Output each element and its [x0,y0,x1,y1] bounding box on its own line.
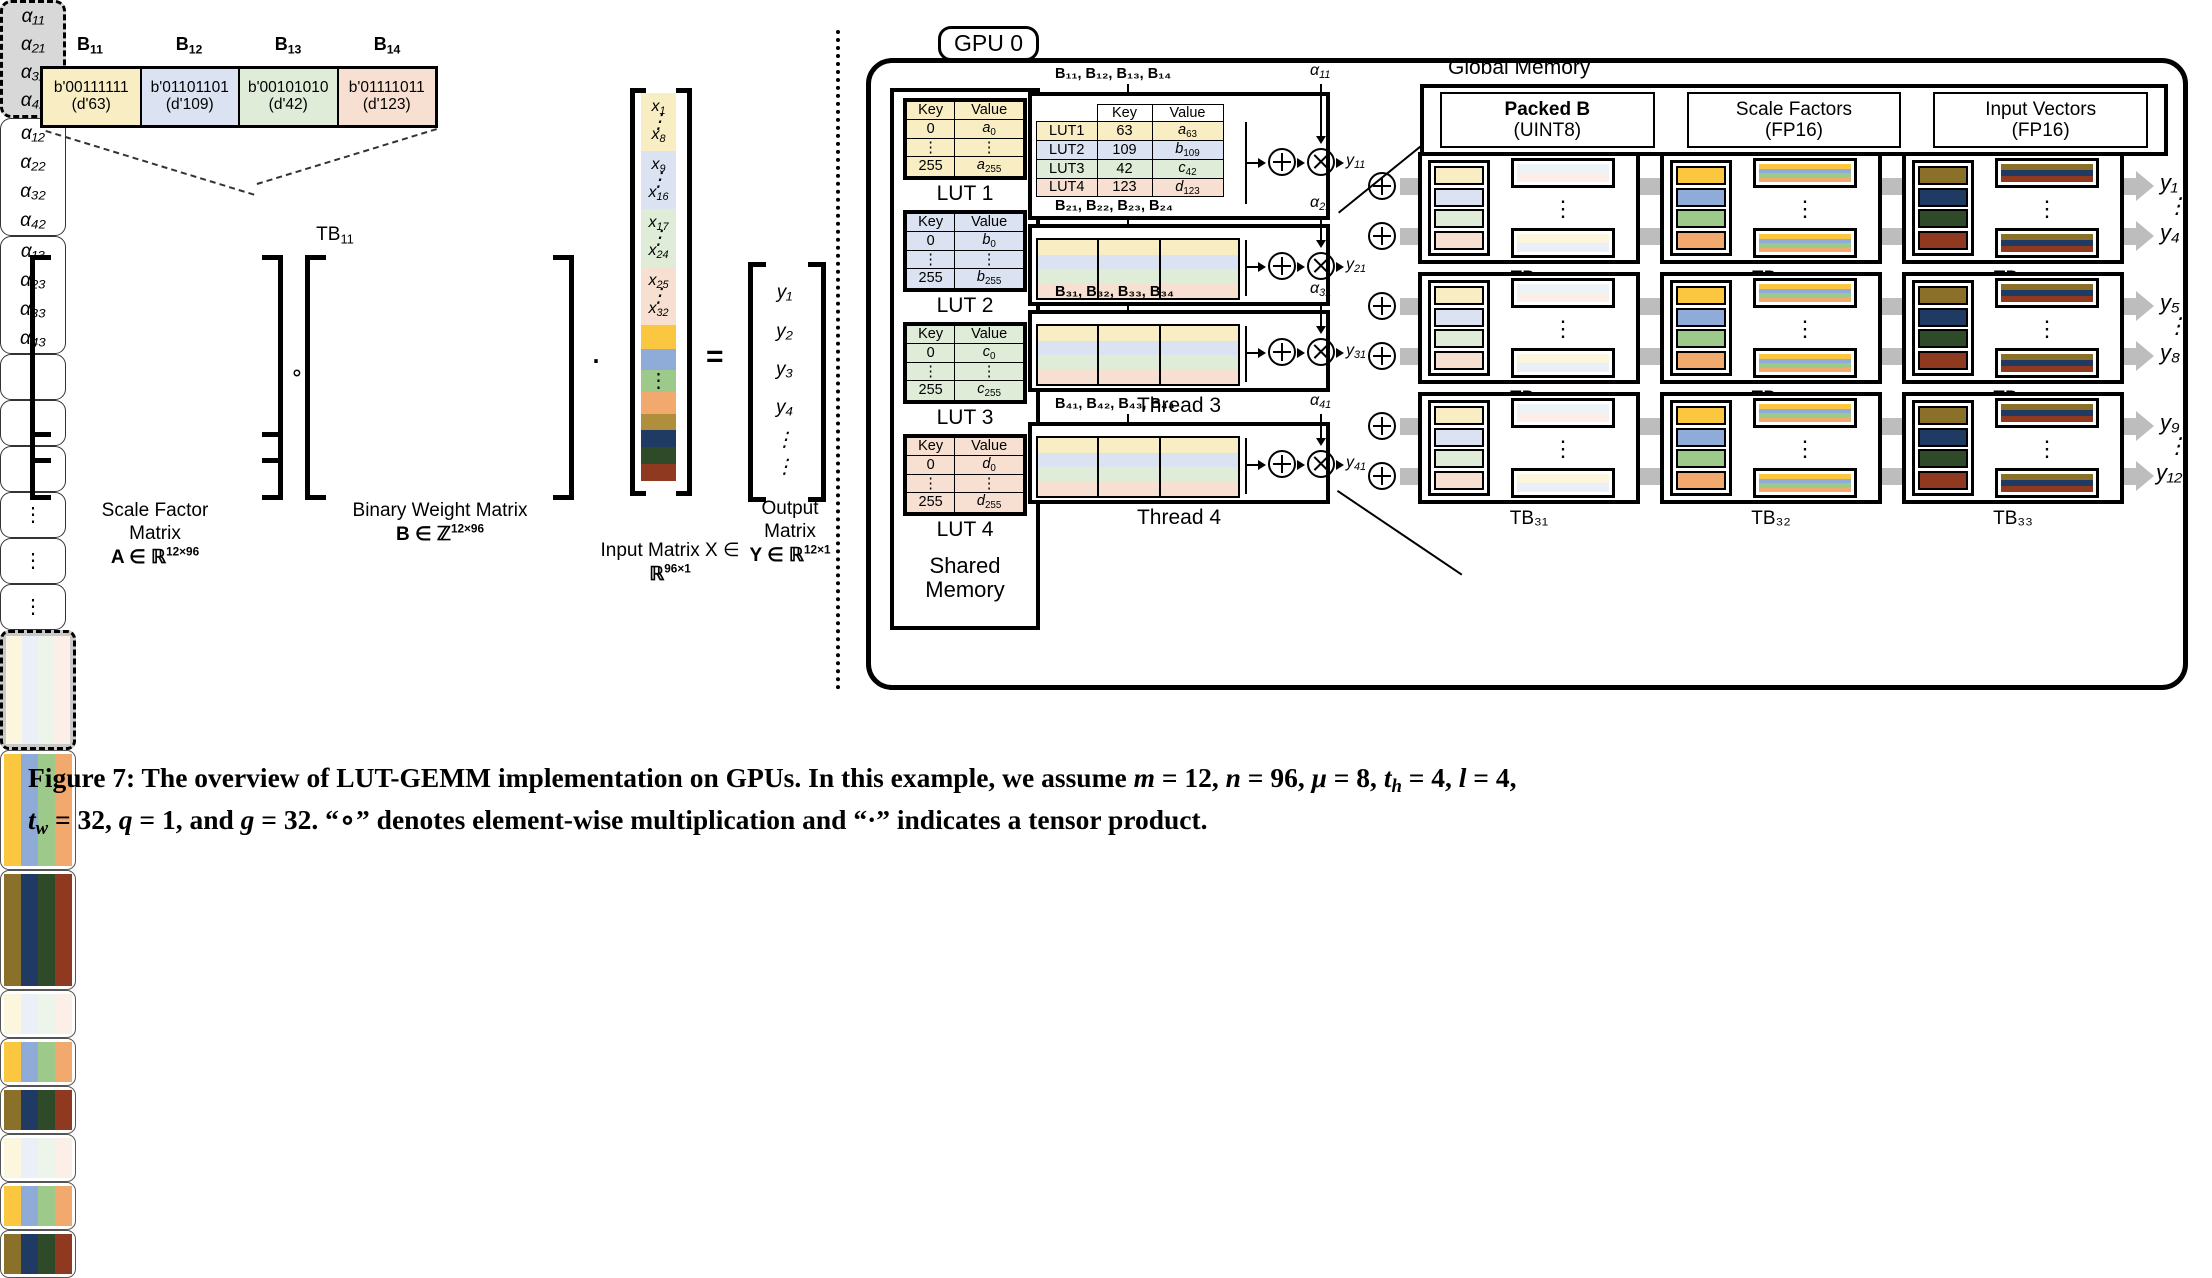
tb-12-dots: ⋮ [1794,203,1816,214]
x-bot-1: x16 [648,185,668,203]
bw-row [4,1052,72,1062]
bw-row [4,958,72,986]
scale-factor-a42: α₄₂ [20,210,46,232]
tb-group-13: ⋮ [1902,152,2124,264]
output-vector-y: y₁ y₂ y₃ y₄ ⋮ ⋮ [761,266,808,488]
tb-22-dots: ⋮ [1794,323,1816,334]
lut2-key-dots: ⋮ [907,251,955,269]
lut1-key-255: 255 [907,157,955,177]
lut2-key-255: 255 [907,269,955,289]
packed-byte-decimal-2: (d'42) [269,97,308,114]
bw-row [4,1186,72,1196]
gm-row1-y-dots: ⋮ [2166,200,2188,211]
thread-2-adder-icon [1268,252,1296,280]
bw-row [4,1042,72,1052]
caption-line-2: Matrix [129,523,181,544]
lut1-key-header: Key [907,102,955,120]
bw-row [4,1244,72,1254]
thread-2-inputs: B₂₁, B₂₂, B₂₃, B₂₄ [1055,198,1173,214]
thread-1-alpha: α11 [1310,62,1330,81]
tb-21-dots: ⋮ [1552,323,1574,334]
thread-3-collapsed-table [1036,324,1240,386]
thread-1-brace-tip [1245,162,1259,164]
bw-row [6,663,70,690]
tb-group-21: ⋮ [1418,272,1640,384]
bw-row [6,636,70,663]
bw-row [4,1004,72,1014]
thread-1-multiplier-icon [1307,148,1335,176]
thread-1-alpha-arrow-icon [1316,136,1326,144]
flow-arrow-head-r2-top-icon [2136,291,2154,321]
lut3-value-0: c0 [955,343,1024,363]
tb-22-right-stack: ⋮ [1732,275,1878,381]
lut-name-3: LUT 3 [903,406,1027,430]
tb-21-chip-bot [1511,348,1615,378]
lut-name-1: LUT 1 [903,182,1027,206]
caption-line-3: A ∈ ℝ [111,547,166,568]
tb-23-left-stack [1912,280,1974,376]
thread-3-mul-arrow-icon [1297,348,1305,358]
thread-4-col-0 [1038,438,1099,496]
thread-2-brace-tip [1245,266,1259,268]
tb-33-right-stack: ⋮ [1974,395,2120,501]
lut3-key-0: 0 [907,343,955,363]
bw-row [6,717,70,744]
thread-4-brace-tip [1245,464,1259,466]
thread-2-output: y21 [1346,256,1366,275]
binary-weight-group-r2c3 [0,1086,76,1134]
thread-3-col-1 [1099,326,1160,384]
tb-32-chip-top [1753,398,1857,428]
binary-weight-group-r3c2 [0,1182,76,1230]
bw-matrix-bracket-right [553,255,574,500]
caption-line-2: B ∈ ℤ [396,524,451,545]
binary-weight-group-r1c3 [0,870,76,990]
lut4-key-255: 255 [907,493,955,513]
thread-4-inputs: B₄₁, B₄₂, B₄₃, B₄₄ [1055,396,1175,412]
bw-row [4,1110,72,1120]
gm-row3-y-bot: y₁₂ [2156,460,2182,486]
lut1-value-255: a255 [955,157,1024,177]
tb-group-22: ⋮ [1660,272,1882,384]
scale-matrix-bracket-left-b [30,432,51,500]
gm-row2-y-bot: y₈ [2160,340,2180,366]
y-bracket-right [808,262,826,502]
gm-cell-0-l1: Packed B [1505,99,1591,120]
lut3-key-dots: ⋮ [907,363,955,381]
y-entry-5: ⋮ [775,462,795,472]
thread-1-key-0: 63 [1097,122,1152,141]
tb-group-11: ⋮ [1418,152,1640,264]
tb-32-right-stack: ⋮ [1732,395,1878,501]
thread-1-value-0: a63 [1152,122,1223,141]
row1-bot-adder-icon [1368,222,1396,250]
thread-1-sum-arrow-icon [1258,158,1266,168]
bw-row [4,1254,72,1264]
caption-line-2: ℝ [649,564,664,585]
thread-3-col-2 [1161,326,1238,384]
packed-byte-label-3: B14 [337,34,437,56]
bw-row [4,1216,72,1226]
bw-row [4,874,72,902]
lut2-value-0: b0 [955,231,1024,251]
thread-1-lut-name-1: LUT2 [1037,141,1098,160]
thread-3-out-arrow-icon [1336,348,1344,358]
thread-1-key-header: Key [1097,105,1152,122]
gm-cell-0-l2: (UINT8) [1514,120,1582,141]
tb-label-sub: 11 [340,232,353,247]
thread-1-key-1: 109 [1097,141,1152,160]
lut-name-4: LUT 4 [903,518,1027,542]
x-tail-0 [641,325,676,348]
x-tail-2: ⋮ [641,370,676,392]
packed-byte-cell-2: b'00101010 (d'42) [240,69,339,125]
thread-1-key-2: 42 [1097,159,1152,178]
tb-23-chip-top [1995,278,2099,308]
tb-32-chip-bot [1753,468,1857,498]
scale-factor-a11: α₁₁ [22,6,45,28]
global-memory-bar: Packed B (UINT8) Scale Factors (FP16) In… [1420,84,2168,156]
lut2-key-header: Key [907,214,955,232]
binary-weight-group-r2c1 [0,990,76,1038]
tensor-product-operator: · [590,352,602,366]
tb-23-right-stack: ⋮ [1974,275,2120,381]
bw-row [4,1148,72,1158]
lut1-key-0: 0 [907,119,955,139]
packed-byte-label-1: B12 [139,34,239,56]
x-tail-7 [641,464,676,481]
thread-4-brace [1245,438,1247,494]
equals-operator: = [706,340,724,374]
thread-4-col-2 [1161,438,1238,496]
tb-33-dots: ⋮ [2036,443,2058,454]
thread-2-out-arrow-icon [1336,262,1344,272]
packed-byte-cell-3: b'01111011 (d'123) [339,69,436,125]
tb-11-left-stack [1428,160,1490,256]
tb-32-dots: ⋮ [1794,443,1816,454]
scale-factor-group-col2: α₁₂ α₂₂ α₃₂ α₄₂ [0,118,66,236]
thread-3-inputs: B₃₁, B₃₂, B₃₃, B₃₄ [1055,284,1174,300]
thread-4-adder-icon [1268,450,1296,478]
caption-sup: 12×96 [451,523,484,536]
thread-1-value-1: b109 [1152,141,1223,160]
thread-2-multiplier-icon [1307,252,1335,280]
tb-31-right-stack: ⋮ [1490,395,1636,501]
thread-1-output: y11 [1346,152,1365,171]
x-tail-6 [641,447,676,464]
thread-3-multiplier-icon [1307,338,1335,366]
thread-4-name: Thread 4 [1028,506,1330,530]
tb-31-left-stack [1428,400,1490,496]
packed-byte-row: b'00111111 (d'63) b'01101101 (d'109) b'0… [40,66,438,128]
lut3-value-dots: ⋮ [955,363,1024,381]
y-entry-2: y₃ [776,359,793,381]
figure-root: B11 B12 B13 B14 b'00111111 (d'63) b'0110… [0,0,2212,864]
gm-cell-2-l1: Input Vectors [1985,99,2096,120]
packed-byte-binary-1: b'01101101 [151,80,229,97]
thread-1-adder-icon [1268,148,1296,176]
thread-2-mul-arrow-icon [1297,262,1305,272]
x-tail-dots: ⋮ [649,376,669,386]
tb-13-dots: ⋮ [2036,203,2058,214]
lut-table-3: Key Value 0 c0 ⋮ ⋮ 255 c255 [903,322,1027,404]
tb-12-chip-top [1753,158,1857,188]
tb-31-chip-top [1511,398,1615,428]
tb-11-chip-bot [1511,228,1615,258]
gm-row1-y-bot: y₄ [2160,220,2180,246]
x-tail-3 [641,392,676,414]
tb11-label: TB11 [270,224,400,247]
x-bot-0: x8 [651,127,665,145]
thread-4-collapsed-table [1036,436,1240,498]
figure-caption-line-1: Figure 7: The overview of LUT-GEMM imple… [28,762,1516,793]
row2-bot-adder-icon [1368,342,1396,370]
flow-arrow-head-r2-bot-icon [2136,341,2154,371]
thread-1-lut-name-2: LUT3 [1037,159,1098,178]
x-tail-4 [641,414,676,431]
bw-matrix-bracket-left [305,255,326,500]
thread-1-lut-name-0: LUT1 [1037,122,1098,141]
thread-1-value-2: c42 [1152,159,1223,178]
shared-memory-line-2: Memory [925,577,1004,602]
bw-row [4,994,72,1004]
x-segment-1: x9 ⋮ x16 [641,151,676,209]
global-memory-cell-1: Scale Factors (FP16) [1687,92,1902,149]
thread-1-lut-name-3: LUT4 [1037,178,1098,197]
bw-row [4,902,72,930]
scale-factor-a32: α₃₂ [20,181,46,203]
gm-cell-1-l1: Scale Factors [1736,99,1852,120]
lut1-value-dots: ⋮ [955,139,1024,157]
tb-13-chip-bot [1995,228,2099,258]
tb-32-left-stack [1670,400,1732,496]
thread-2-alpha-arrow-icon [1316,240,1326,248]
leader-line-right [257,128,437,185]
tb-23-chip-bot [1995,348,2099,378]
caption-line-1: Output [761,498,818,519]
caption-line-3: Y ∈ ℝ [749,545,804,566]
tb-11-chip-top [1511,158,1615,188]
packed-byte-binary-0: b'00111111 [54,80,129,97]
bw-row [4,1168,72,1178]
dots: ⋮ [23,602,43,612]
bw-row [6,690,70,717]
shared-memory-label: Shared Memory [890,554,1040,602]
lut-name-2: LUT 2 [903,294,1027,318]
thread-1-mul-arrow-icon [1297,158,1305,168]
thread-4-sum-arrow-icon [1258,460,1266,470]
packed-byte-label-0: B11 [40,34,140,56]
shared-memory-line-1: Shared [930,553,1001,578]
tb-group-33: ⋮ [1902,392,2124,504]
packed-byte-decimal-3: (d'123) [363,97,411,114]
flow-arrow-head-r3-top-icon [2136,411,2154,441]
lut4-value-0: d0 [955,455,1024,475]
bw-row [4,1264,72,1274]
thread-4-multiplier-icon [1307,450,1335,478]
bw-row [4,1014,72,1024]
row3-top-adder-icon [1368,412,1396,440]
x-bracket-right [676,88,692,496]
gm-row2-y-dots: ⋮ [2166,320,2188,331]
tb-11-right-stack: ⋮ [1490,155,1636,261]
lut1-key-dots: ⋮ [907,139,955,157]
row1-top-adder-icon [1368,172,1396,200]
packed-byte-label-2: B13 [238,34,338,56]
x-segment-2: x17 ⋮ x24 [641,209,676,267]
y-entry-0: y₁ [777,282,793,304]
tb-21-left-stack [1428,280,1490,376]
caption-line-1: Scale Factor [102,500,209,521]
lut-table-2: Key Value 0 b0 ⋮ ⋮ 255 b255 [903,210,1027,292]
tb-31-chip-bot [1511,468,1615,498]
packed-byte-decimal-1: (d'109) [166,97,214,114]
bw-row [4,1024,72,1034]
thread-3-adder-icon [1268,338,1296,366]
thread-2-sum-arrow-icon [1258,262,1266,272]
scale-factor-matrix-caption: Scale Factor Matrix A ∈ ℝ12×96 [15,500,295,570]
lut3-value-255: c255 [955,381,1024,401]
tb-group-31: ⋮ [1418,392,1640,504]
row3-bot-adder-icon [1368,462,1396,490]
x-segment-0: x1 ⋮ x8 [641,93,676,151]
leader-line-left [45,130,254,196]
lut4-key-0: 0 [907,455,955,475]
lut4-value-dots: ⋮ [955,475,1024,493]
flow-arrow-head-r3-bot-icon [2136,461,2154,491]
lut-table-4: Key Value 0 d0 ⋮ ⋮ 255 d255 [903,434,1027,516]
scale-matrix-bracket-right-b [262,432,283,500]
x-tail-1 [641,349,676,371]
bw-row [4,1072,72,1082]
flow-arrow-head-r1-top-icon [2136,171,2154,201]
bw-row [4,1100,72,1110]
thread-4-output: y41 [1346,454,1366,473]
lut2-value-header: Value [955,214,1024,232]
lut4-value-header: Value [955,438,1024,456]
flow-arrow-head-r1-bot-icon [2136,221,2154,251]
global-memory-cell-0: Packed B (UINT8) [1440,92,1655,149]
tb-13-left-stack [1912,160,1974,256]
thread-1-alpha-line [1320,84,1322,138]
thread-1-key-3: 123 [1097,178,1152,197]
thread-2-alpha-line [1320,216,1322,242]
binary-weight-matrix-caption: Binary Weight Matrix B ∈ ℤ12×96 [295,500,585,547]
lut1-value-0: a0 [955,119,1024,139]
bw-row [4,930,72,958]
lut1-value-header: Value [955,102,1024,120]
binary-weight-group-r3c1 [0,1134,76,1182]
tb-12-right-stack: ⋮ [1732,155,1878,261]
lut-table-1: Key Value 0 a0 ⋮ ⋮ 255 a255 [903,98,1027,180]
tb-label-32: TB₃₂ [1660,508,1882,530]
tb-11-dots: ⋮ [1552,203,1574,214]
tb-23-dots: ⋮ [2036,323,2058,334]
caption-sup: 12×96 [166,546,199,559]
lut3-key-255: 255 [907,381,955,401]
tb-12-chip-bot [1753,228,1857,258]
thread-2-brace [1245,240,1247,296]
thread-3-col-0 [1038,326,1099,384]
scale-factor-a22: α₂₂ [20,152,45,174]
bw-row [4,1206,72,1216]
global-memory-cell-2: Input Vectors (FP16) [1933,92,2148,149]
lut4-value-255: d255 [955,493,1024,513]
thread-3-alpha-line [1320,302,1322,328]
bw-row [4,1138,72,1148]
input-vector-x: x1 ⋮ x8 x9 ⋮ x16 x17 ⋮ x24 x25 ⋮ x32 ⋮ [641,93,676,481]
tb-22-left-stack [1670,280,1732,376]
caption-sup: 12×1 [804,544,831,557]
thread-2-alpha: α21 [1310,194,1331,213]
gm-cell-1-l2: (FP16) [1765,120,1823,141]
lut4-key-header: Key [907,438,955,456]
packed-byte-cell-0: b'00111111 (d'63) [43,69,142,125]
x-segment-3: x25 ⋮ x32 [641,267,676,325]
tb-label-31: TB₃₁ [1418,508,1640,530]
bw-row [4,1120,72,1130]
caption-line-1: Binary Weight Matrix [353,500,528,521]
packed-byte-binary-2: b'00101010 [248,80,329,97]
thread-1-value-3: d123 [1152,178,1223,197]
thread-4-out-arrow-icon [1336,460,1344,470]
lut2-key-0: 0 [907,231,955,251]
thread-4-alpha-line [1320,414,1322,440]
thread-1-out-arrow-icon [1336,158,1344,168]
tb-13-chip-top [1995,158,2099,188]
tb-group-23: ⋮ [1902,272,2124,384]
gm-cell-2-l2: (FP16) [2012,120,2070,141]
x-tail-5 [641,430,676,447]
bw-row [4,1234,72,1244]
row2-top-adder-icon [1368,292,1396,320]
packed-byte-binary-3: b'01111011 [349,80,425,97]
global-memory-title: Global Memory [1448,56,1590,80]
figure-caption-line-2: tw = 32, q = 1, and g = 32. “∘” denotes … [28,804,1208,835]
gm-row3-y-dots: ⋮ [2166,440,2188,451]
tb-33-chip-bot [1995,468,2099,498]
tb-group-12: ⋮ [1660,152,1882,264]
thread-3-brace-tip [1245,352,1259,354]
thread-4-alpha: α41 [1310,392,1331,411]
thread-3-alpha-arrow-icon [1316,326,1326,334]
hadamard-operator: ∘ [290,360,304,386]
thread-3-output: y31 [1346,342,1366,361]
lut2-value-dots: ⋮ [955,251,1024,269]
packed-byte-cell-1: b'01101101 (d'109) [142,69,241,125]
thread-1-lut-table: Key Value LUT1 63 a63 LUT2 109 b109 LUT3… [1036,104,1224,197]
thread-1-value-header: Value [1152,105,1223,122]
caption-sup: 96×1 [664,563,691,576]
binary-weight-group-r1c1 [0,630,76,750]
tb-12-left-stack [1670,160,1732,256]
y-entry-4: ⋮ [775,435,795,445]
tb-label-text: TB [316,224,340,245]
tb-label-33: TB₃₃ [1902,508,2124,530]
thread-3-sum-arrow-icon [1258,348,1266,358]
y-entry-1: y₂ [776,321,793,343]
tb-22-chip-bot [1753,348,1857,378]
bw-row [4,1062,72,1072]
lut4-key-dots: ⋮ [907,475,955,493]
lut3-key-header: Key [907,326,955,344]
thread-4-mul-arrow-icon [1297,460,1305,470]
lut2-value-255: b255 [955,269,1024,289]
thread-4-col-1 [1099,438,1160,496]
tb-31-dots: ⋮ [1552,443,1574,454]
y-entry-3: y₄ [776,397,793,419]
x-bot-2: x24 [648,243,668,261]
